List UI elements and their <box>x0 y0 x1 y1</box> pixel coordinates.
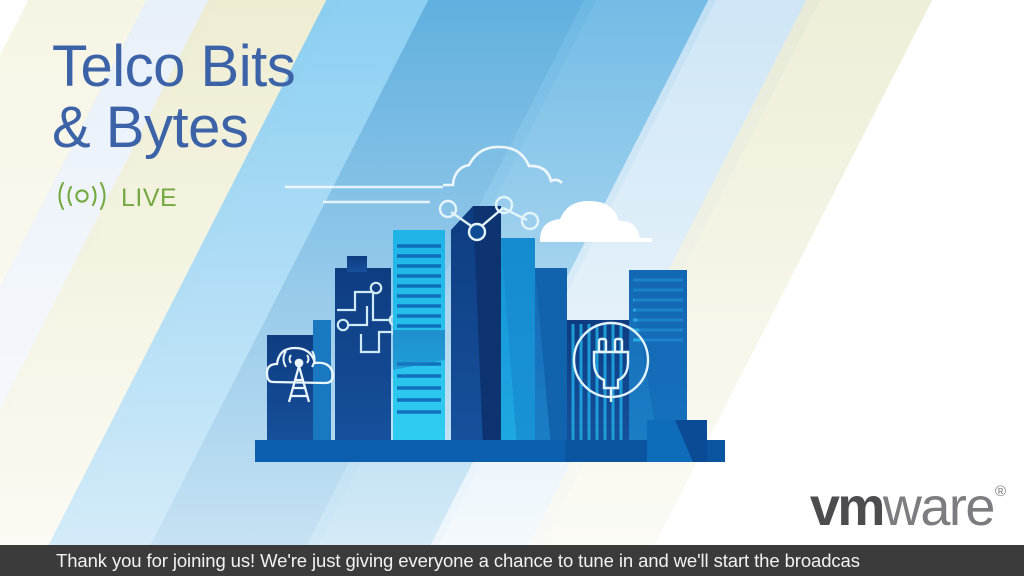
registered-trademark-icon: ® <box>995 484 1006 499</box>
title-block: Telco Bits & Bytes LIVE <box>52 36 295 216</box>
live-label: LIVE <box>121 184 177 213</box>
vmware-logo-vm: vm <box>810 480 883 534</box>
caption-text: Thank you for joining us! We're just giv… <box>0 550 860 572</box>
vmware-logo-ware: ware <box>883 480 994 534</box>
smart-city-skyline-illustration <box>255 120 725 480</box>
caption-bar: Thank you for joining us! We're just giv… <box>0 545 1024 576</box>
live-badge: LIVE <box>52 181 295 216</box>
vmware-logo: vm ware ® <box>810 480 1006 534</box>
page-title: Telco Bits & Bytes <box>52 36 295 159</box>
presentation-slide: Telco Bits & Bytes LIVE vm ware ® <box>0 0 1024 576</box>
broadcast-waves-icon <box>52 181 112 216</box>
